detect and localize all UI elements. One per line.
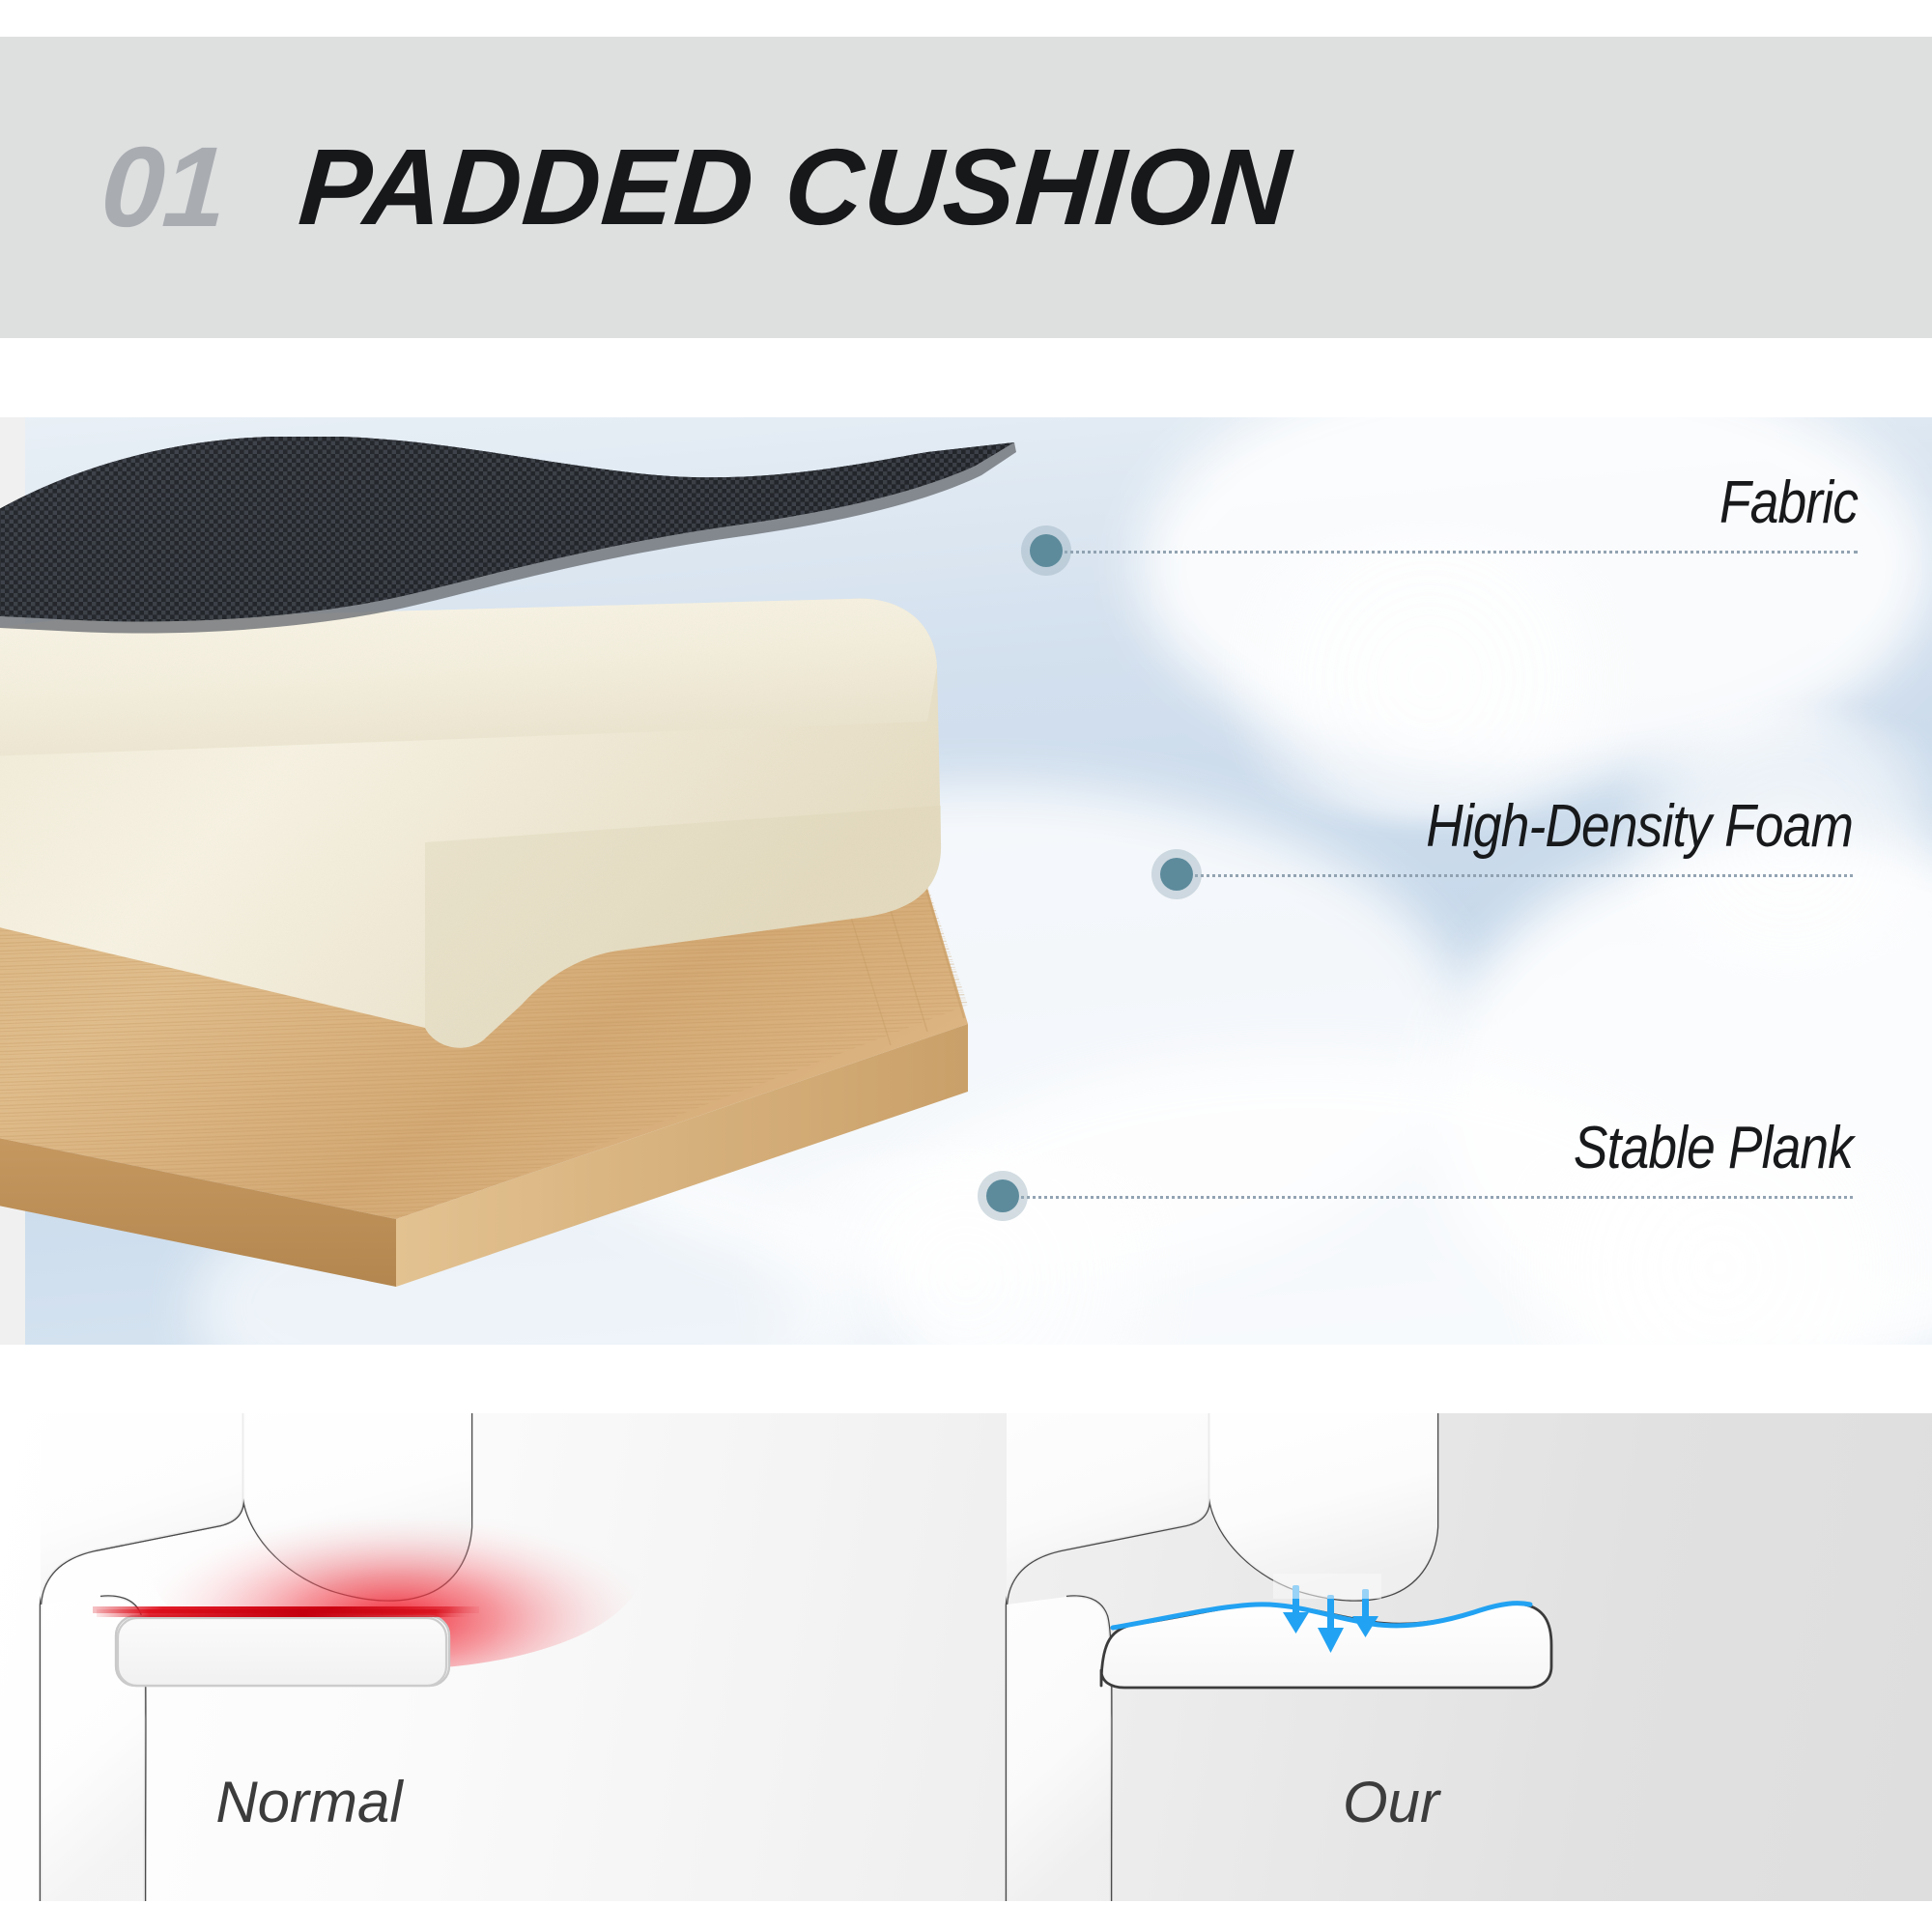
marker-dot-fabric[interactable]: [1030, 534, 1063, 567]
comparison-label-our: Our: [908, 1769, 1874, 1835]
comparison-panel-normal: Normal: [0, 1413, 966, 1901]
callout-label-plank: Stable Plank: [1574, 1114, 1853, 1182]
step-number: 01: [99, 130, 227, 244]
marker-dot-foam[interactable]: [1160, 858, 1193, 891]
comparison-section: Normal: [0, 1413, 1932, 1901]
leader-line-plank: [1003, 1196, 1853, 1199]
cloud-shape: [1179, 533, 1681, 823]
callout-label-fabric: Fabric: [1719, 469, 1858, 537]
callout-label-foam: High-Density Foam: [1426, 792, 1853, 861]
comparison-panel-our: Our: [966, 1413, 1932, 1901]
layer-fabric: [0, 437, 1053, 678]
header-banner: 01 PADDED CUSHION: [0, 37, 1932, 338]
page-title: PADDED CUSHION: [296, 133, 1294, 241]
pressure-line-red: [97, 1609, 473, 1617]
marker-dot-plank[interactable]: [986, 1179, 1019, 1212]
comparison-label-normal: Normal: [0, 1769, 792, 1835]
leader-line-fabric: [1046, 551, 1858, 554]
cushion-flat-surface: [118, 1618, 446, 1686]
product-layers-hero: Fabric High-Density Foam Stable Plank: [0, 417, 1932, 1345]
leader-line-foam: [1177, 874, 1853, 877]
